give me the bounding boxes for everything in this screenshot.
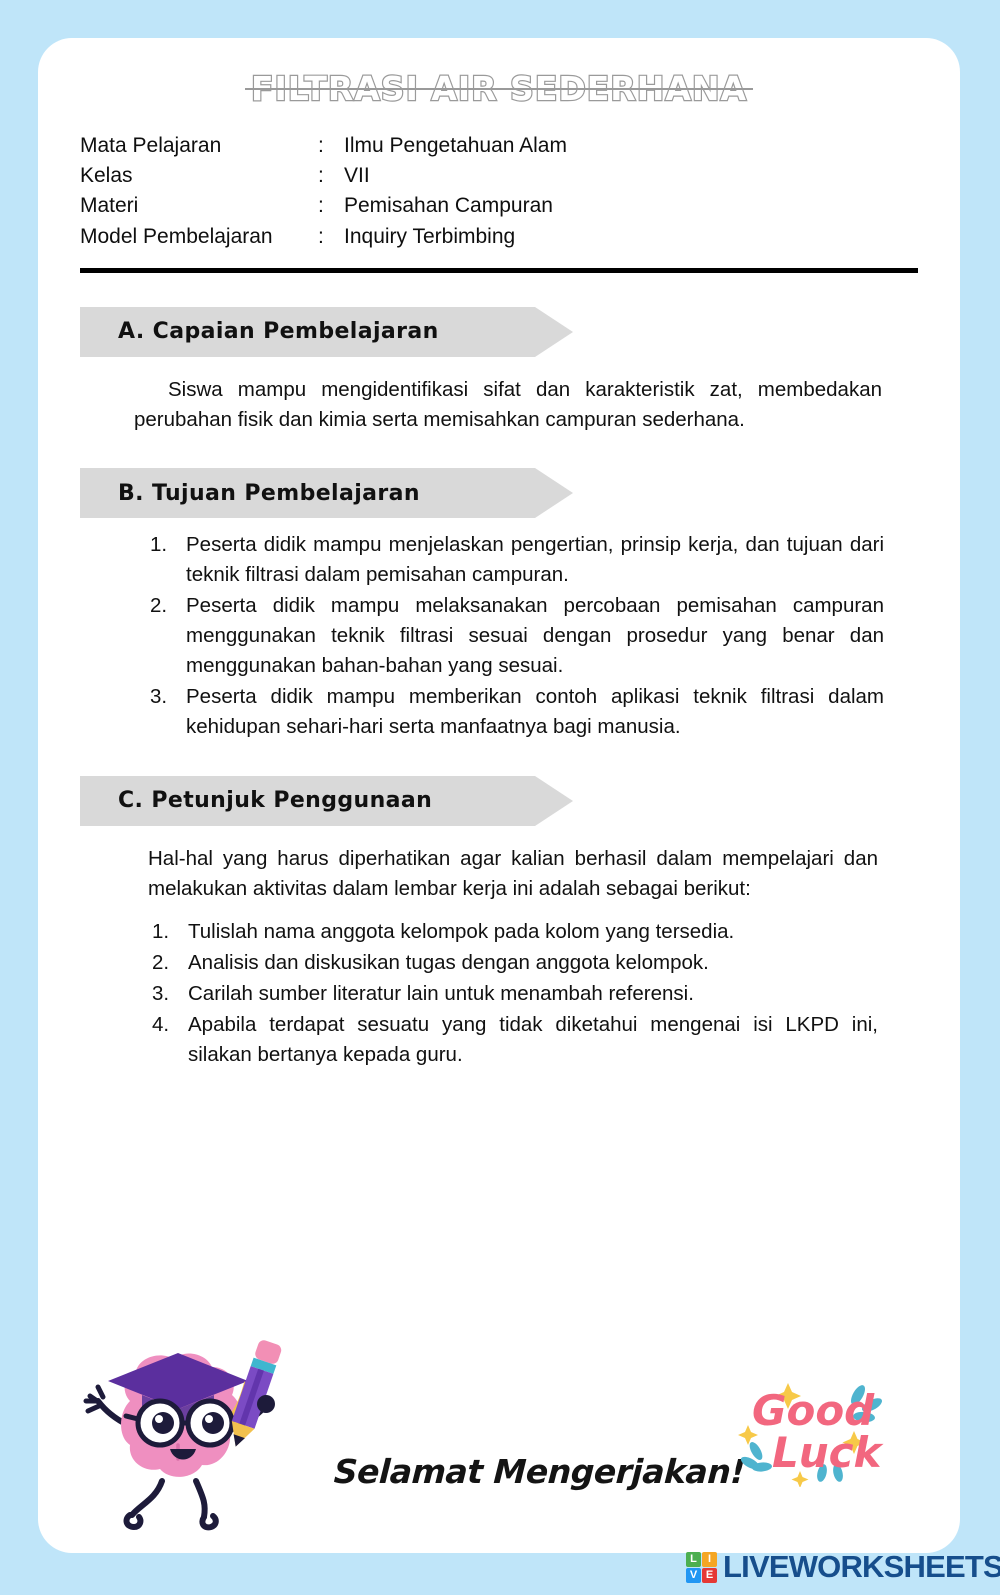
meta-colon: : [318, 222, 344, 252]
meta-label: Kelas [80, 161, 318, 191]
meta-label: Materi [80, 191, 318, 221]
list-item: Peserta didik mampu menjelaskan pengerti… [148, 530, 884, 590]
logo-tile-v: V [686, 1568, 701, 1583]
page-title: FILTRASI AIR SEDERHANA [245, 72, 753, 105]
meta-colon: : [318, 161, 344, 191]
liveworksheets-logo[interactable]: L I V E LIVEWORKSHEETS [686, 1549, 1000, 1585]
list-item: Tulislah nama anggota kelompok pada kolo… [150, 917, 878, 947]
list-item: Analisis dan diskusikan tugas dengan ang… [150, 948, 878, 978]
meta-row: Model Pembelajaran : Inquiry Terbimbing [80, 222, 960, 252]
worksheet-sheet: FILTRASI AIR SEDERHANA Mata Pelajaran : … [38, 38, 960, 1553]
list-item: Apabila terdapat sesuatu yang tidak dike… [150, 1010, 878, 1070]
meta-value: Pemisahan Campuran [344, 191, 960, 221]
meta-row: Materi : Pemisahan Campuran [80, 191, 960, 221]
liveworksheets-wordmark: LIVEWORKSHEETS [723, 1549, 1000, 1585]
meta-label: Model Pembelajaran [80, 222, 318, 252]
section-c-list: Tulislah nama anggota kelompok pada kolo… [150, 917, 878, 1070]
logo-tile-l: L [686, 1552, 701, 1567]
good-luck-line2: Luck [772, 1428, 885, 1477]
good-luck-badge-icon: Good Luck [726, 1359, 906, 1487]
meta-value: Ilmu Pengetahuan Alam [344, 131, 960, 161]
header-divider [80, 268, 918, 273]
meta-colon: : [318, 131, 344, 161]
closing-message: Selamat Mengerjakan! [333, 1452, 746, 1491]
section-b-list: Peserta didik mampu menjelaskan pengerti… [148, 530, 884, 741]
meta-row: Mata Pelajaran : Ilmu Pengetahuan Alam [80, 131, 960, 161]
section-heading-b: B. Tujuan Pembelajaran [80, 468, 535, 518]
logo-tile-e: E [702, 1568, 717, 1583]
worksheet-meta: Mata Pelajaran : Ilmu Pengetahuan Alam K… [80, 131, 960, 252]
meta-row: Kelas : VII [80, 161, 960, 191]
section-a-paragraph: Siswa mampu mengidentifikasi sifat dan k… [134, 375, 882, 434]
section-heading-b-label: B. Tujuan Pembelajaran [118, 481, 420, 506]
brain-mascot-icon [70, 1309, 300, 1539]
section-heading-a: A. Capaian Pembelajaran [80, 307, 535, 357]
meta-label: Mata Pelajaran [80, 131, 318, 161]
section-heading-a-label: A. Capaian Pembelajaran [118, 319, 439, 344]
list-item: Carilah sumber literatur lain untuk mena… [150, 979, 878, 1009]
list-item: Peserta didik mampu memberikan contoh ap… [148, 682, 884, 742]
meta-colon: : [318, 191, 344, 221]
section-heading-c-label: C. Petunjuk Penggunaan [118, 788, 432, 813]
list-item: Peserta didik mampu melaksanakan percoba… [148, 591, 884, 681]
page-title-wrap: FILTRASI AIR SEDERHANA [38, 72, 960, 105]
footer-artwork: Selamat Mengerjakan! Good Luck [38, 1279, 960, 1539]
section-c-intro: Hal-hal yang harus diperhatikan agar kal… [148, 844, 878, 903]
meta-value: VII [344, 161, 960, 191]
liveworksheets-tiles-icon: L I V E [686, 1552, 717, 1583]
logo-tile-i: I [702, 1552, 717, 1567]
section-heading-c: C. Petunjuk Penggunaan [80, 776, 535, 826]
meta-value: Inquiry Terbimbing [344, 222, 960, 252]
